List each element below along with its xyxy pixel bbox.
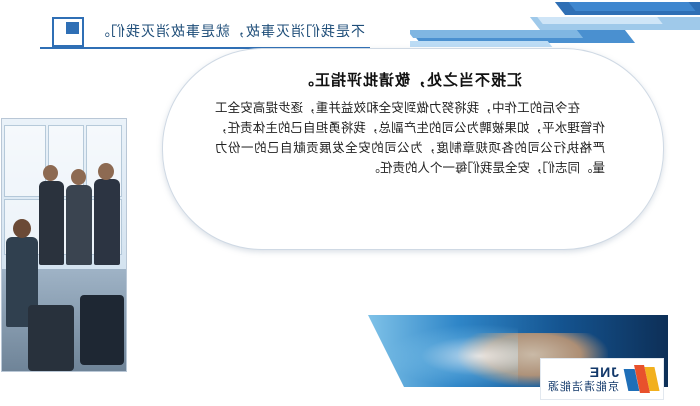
company-logo: JNE 京能清洁能源 <box>540 358 664 400</box>
photo-person-4-head <box>13 219 31 238</box>
photo-glow <box>388 325 518 387</box>
decorative-ribbon-band <box>410 0 700 48</box>
ribbon-stripe-2 <box>568 2 695 11</box>
logo-en-text: JNE <box>547 365 619 380</box>
slide-canvas: 不是我们消灭事故，就是事故消灭我们。 汇报不当之处，敬请批评指正。 在今后的工作… <box>0 0 700 406</box>
ribbon-stripe-7 <box>410 41 552 47</box>
panel-body-text: 在今后的工作中，我将努力做到安全和效益并重，逐步提高安全工作管理水平，如果被聘为… <box>215 98 605 178</box>
content-panel-inner: 汇报不当之处，敬请批评指正。 在今后的工作中，我将努力做到安全和效益并重，逐步提… <box>215 69 605 229</box>
logo-mark-icon <box>623 363 659 395</box>
photo-person-1 <box>94 179 120 265</box>
photo-person-3-head <box>43 165 58 181</box>
photo-person-1-head <box>98 163 114 180</box>
photo-person-2-head <box>71 169 86 185</box>
office-meeting-photo <box>1 118 127 372</box>
photo-chair-1 <box>80 295 124 365</box>
photo-person-3 <box>39 181 64 265</box>
mirrored-slide-content: 不是我们消灭事故，就是事故消灭我们。 汇报不当之处，敬请批评指正。 在今后的工作… <box>0 0 700 406</box>
logo-text-block: JNE 京能清洁能源 <box>547 365 619 392</box>
panel-title: 汇报不当之处，敬请批评指正。 <box>215 69 605 90</box>
photo-person-2 <box>66 185 92 265</box>
photo-chair-2 <box>28 305 74 371</box>
content-panel: 汇报不当之处，敬请批评指正。 在今后的工作中，我将努力做到安全和效益并重，逐步提… <box>162 48 664 250</box>
ribbon-stripe-4 <box>537 17 662 24</box>
header-title: 不是我们消灭事故，就是事故消灭我们。 <box>95 21 365 41</box>
logo-cn-text: 京能清洁能源 <box>547 381 619 393</box>
square-accent-icon <box>52 17 84 47</box>
ribbon-stripe-6 <box>410 30 583 38</box>
